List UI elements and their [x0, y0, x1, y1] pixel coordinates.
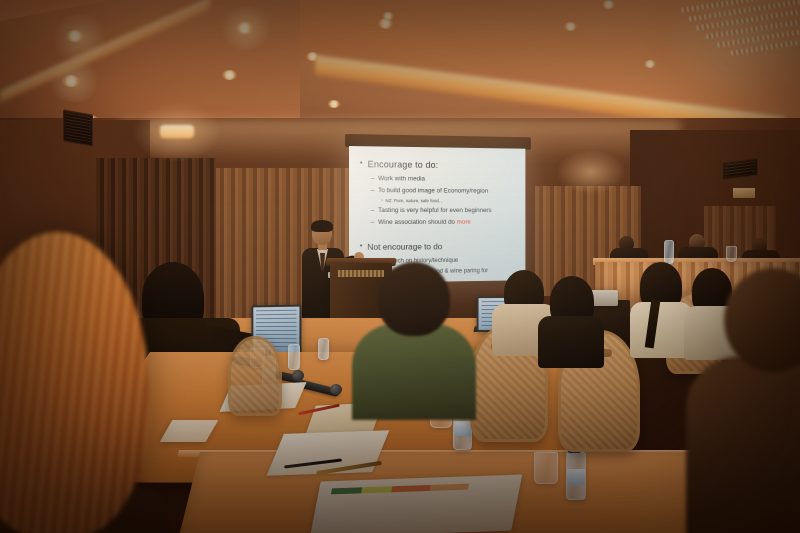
slide-sub-bullet: NZ: Pure, nature, safe food…	[381, 198, 517, 203]
attendee-top	[630, 302, 692, 358]
speaker-grille	[725, 161, 755, 177]
bottle-label	[454, 421, 471, 436]
downlight-icon	[62, 75, 80, 87]
downlight-icon	[564, 22, 577, 31]
attendee-center-foreground	[366, 262, 462, 412]
banquet-chair	[228, 336, 276, 410]
wall-speaker-left	[63, 109, 93, 146]
water-bottle	[664, 240, 674, 264]
attendee-shirt	[352, 324, 476, 420]
drinking-glass[interactable]	[534, 452, 558, 484]
slide-accent-word: more	[457, 218, 471, 225]
downlight-icon	[328, 100, 340, 108]
slide-heading-1: Encourage to do:	[360, 158, 517, 171]
slide-bullet-1-4: Wine association should do more	[371, 218, 518, 225]
microphone-head	[330, 384, 342, 395]
slide-heading-2: Not encourage to do	[360, 240, 517, 252]
wall-sign-right	[733, 188, 755, 198]
attendee-right-3	[630, 262, 692, 354]
downlight-icon	[66, 30, 84, 42]
bottle-label	[567, 469, 585, 485]
speaker-grille	[66, 113, 90, 143]
slide-bullet-1-1: Work with media	[371, 175, 518, 183]
water-bottle[interactable]	[566, 452, 586, 500]
attendee-head	[378, 262, 450, 336]
slide-bullet-1-2: To build good image of Economy/region	[371, 187, 518, 195]
slide-bullet-1-4-text: Wine association should do	[378, 218, 455, 225]
attendee-body	[686, 356, 800, 533]
attendee-top	[538, 316, 604, 368]
chair-back	[228, 336, 282, 416]
attendee-right-2	[536, 276, 606, 362]
presenter-hair	[311, 220, 333, 232]
downlight-icon	[306, 52, 319, 61]
downlight-icon	[602, 0, 615, 9]
drinking-glass	[726, 246, 737, 262]
sconce-glow	[556, 150, 626, 194]
conference-room-photo: Encourage to do: Work with media To buil…	[0, 0, 800, 533]
water-bottle[interactable]	[318, 338, 329, 360]
document-folder[interactable]	[310, 475, 522, 533]
slide-bullet-1-3: Tasting is very helpful for even beginne…	[371, 207, 518, 214]
attendee-right-foreground	[700, 268, 800, 533]
water-bottle[interactable]	[288, 344, 300, 370]
wall-sconce	[160, 125, 194, 138]
downlight-icon	[644, 60, 656, 68]
downlight-icon	[382, 12, 394, 20]
downlight-icon	[236, 22, 253, 34]
downlight-icon	[222, 70, 237, 80]
